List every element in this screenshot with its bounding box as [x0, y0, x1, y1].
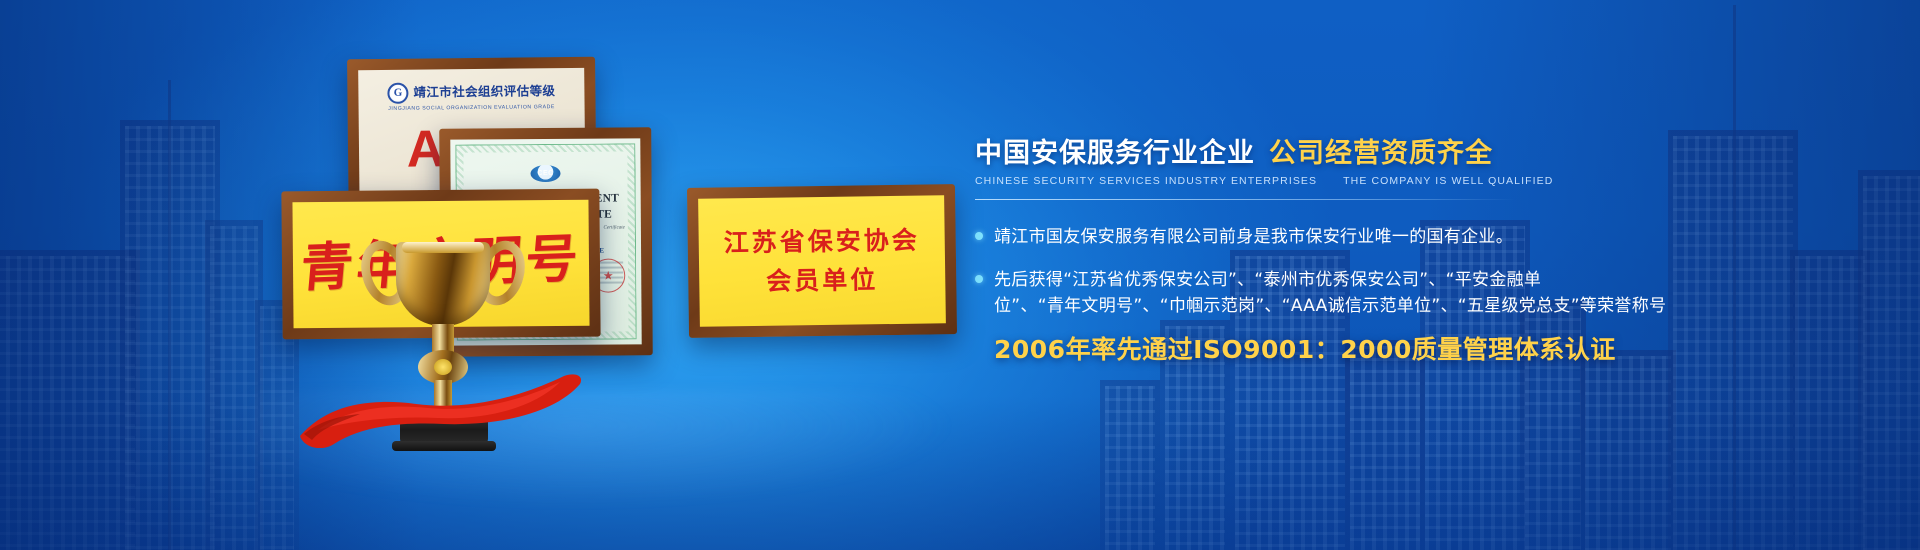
text-panel: 中国安保服务行业企业 公司经营资质齐全 CHINESE SECURITY SER…	[975, 140, 1675, 362]
headline-divider	[975, 199, 1515, 200]
promo-banner: 靖江市社会组织评估等级 JINGJIANG SOCIAL ORGANIZATIO…	[0, 0, 1920, 550]
bullet-dot-icon	[975, 275, 983, 283]
jingjiang-emblem-icon	[387, 83, 408, 104]
bullet-2-line-2: 位”、“青年文明号”、“巾帼示范岗”、“AAA诚信示范单位”、“五星级党总支”等…	[994, 293, 1666, 319]
association-name: 江苏省保安协会	[724, 228, 920, 256]
bullet-2-line-1: 先后获得“江苏省优秀保安公司”、“泰州市优秀保安公司”、“平安金融单	[994, 267, 1666, 293]
bullet-list: 靖江市国友保安服务有限公司前身是我市保安行业唯一的国有企业。 先后获得“江苏省优…	[975, 224, 1675, 320]
trophy-cup	[396, 242, 490, 326]
aaa-header: 靖江市社会组织评估等级	[358, 81, 584, 104]
association-membership: 会员单位	[766, 267, 878, 294]
aaa-title-cn: 靖江市社会组织评估等级	[413, 85, 555, 99]
list-item: 先后获得“江苏省优秀保安公司”、“泰州市优秀保安公司”、“平安金融单 位”、“青…	[975, 267, 1675, 320]
bullet-text: 先后获得“江苏省优秀保安公司”、“泰州市优秀保安公司”、“平安金融单 位”、“青…	[994, 267, 1666, 320]
bullet-1-line-1: 靖江市国友保安服务有限公司前身是我市保安行业唯一的国有企业。	[994, 224, 1513, 250]
red-ribbon-icon	[288, 364, 588, 448]
bullet-dot-icon	[975, 232, 983, 240]
headline-row: 中国安保服务行业企业 公司经营资质齐全	[975, 140, 1675, 167]
gold-trophy-icon	[348, 238, 538, 453]
security-association-member-plaque: 江苏省保安协会 会员单位	[687, 184, 957, 338]
list-item: 靖江市国友保安服务有限公司前身是我市保安行业唯一的国有企业。	[975, 224, 1675, 250]
headline-subtitle-primary: CHINESE SECURITY SERVICES INDUSTRY ENTER…	[975, 176, 1317, 187]
iso-certification-highlight: 2006年率先通过ISO9001：2000质量管理体系认证	[994, 337, 1675, 362]
headline-subtitle-accent: THE COMPANY IS WELL QUALIFIED	[1343, 176, 1553, 187]
headline-accent: 公司经营资质齐全	[1269, 140, 1493, 167]
headline-subtitle-row: CHINESE SECURITY SERVICES INDUSTRY ENTER…	[975, 176, 1675, 187]
bullet-text: 靖江市国友保安服务有限公司前身是我市保安行业唯一的国有企业。	[994, 224, 1513, 250]
aaa-title-en: JINGJIANG SOCIAL ORGANIZATION EVALUATION…	[359, 105, 585, 113]
cec-seal-icon	[530, 165, 560, 182]
headline-primary: 中国安保服务行业企业	[975, 140, 1255, 167]
